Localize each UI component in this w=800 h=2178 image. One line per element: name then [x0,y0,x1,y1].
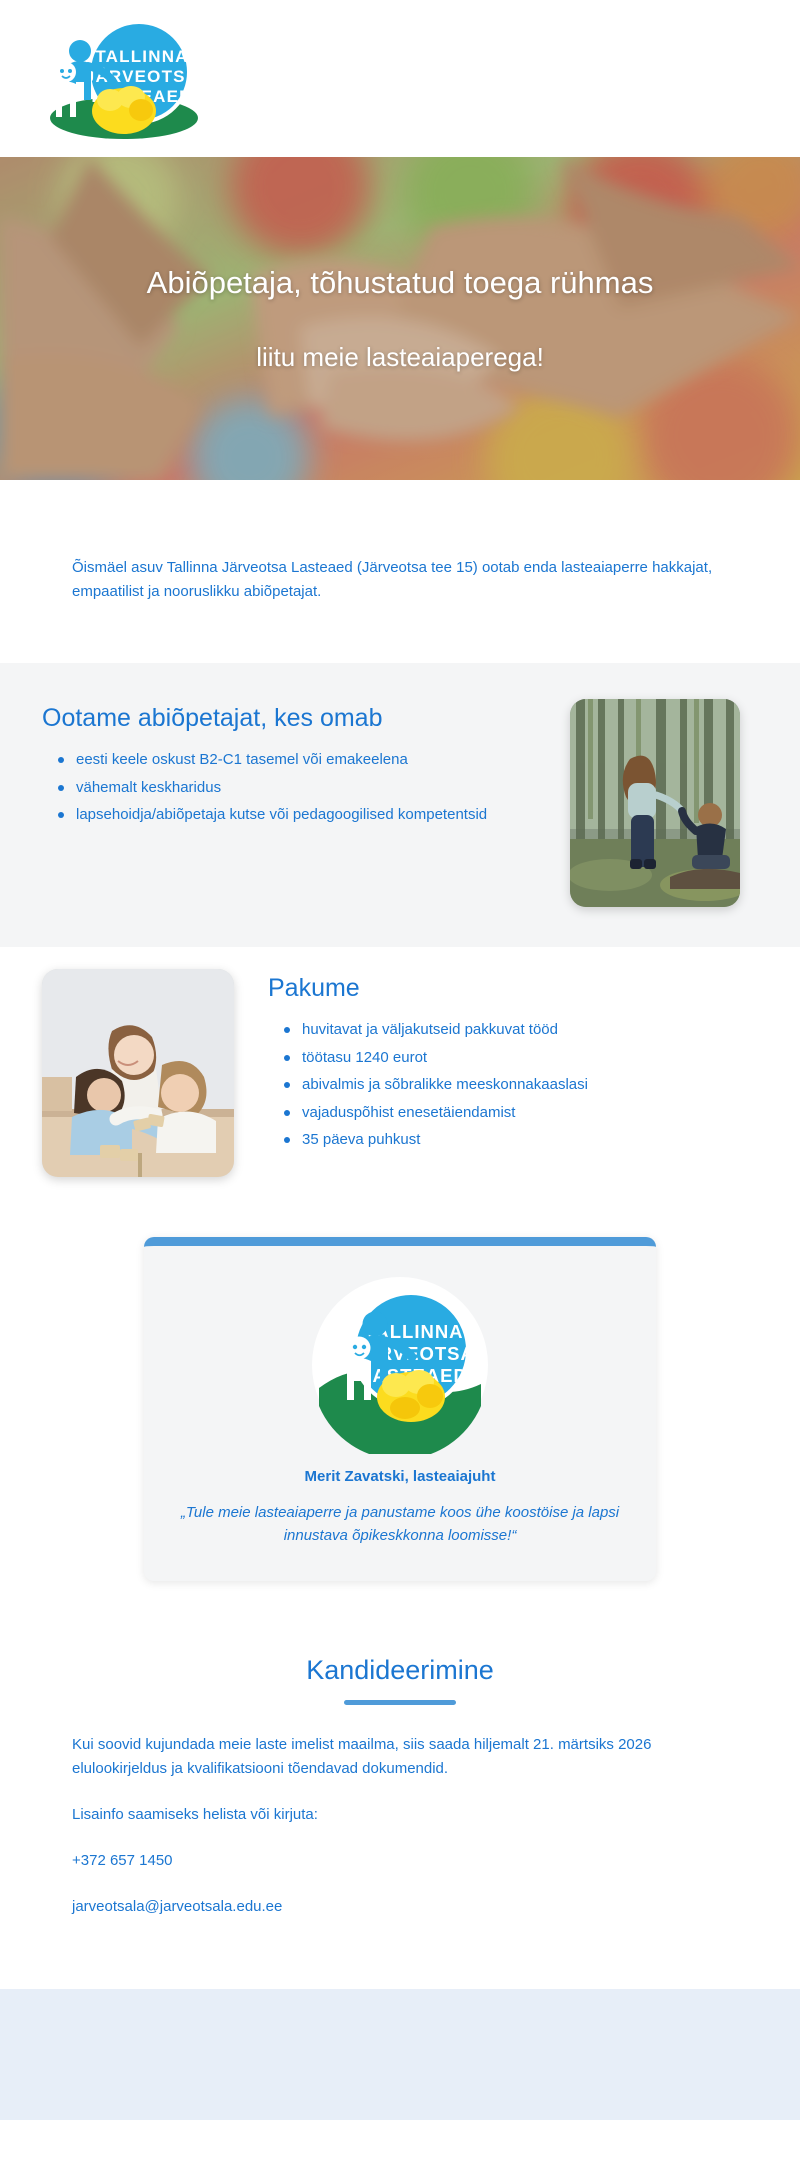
apply-email-row: jarveotsala@jarveotsala.edu.ee [72,1895,728,1919]
list-item: huvitavat ja väljakutseid pakkuvat tööd [302,1019,740,1042]
intro-section: Õismäel asuv Tallinna Järveotsa Lasteaed… [0,480,800,663]
svg-text:TALLINNA: TALLINNA [95,47,188,66]
list-item: vähemalt keskharidus [76,777,536,800]
footer-band [0,1989,800,2120]
phone-link[interactable]: +372 657 1450 [72,1852,173,1869]
list-item: vajaduspõhist enesetäiendamist [302,1102,740,1125]
kindergarten-logo-icon: TALLINNA JÄRVEOTSA LASTEAED [311,1276,489,1454]
apply-phone-row: +372 657 1450 [72,1849,728,1873]
offer-heading: Pakume [268,973,740,1004]
apply-paragraph: Kui soovid kujundada meie laste imelist … [72,1733,728,1781]
apply-section: Kandideerimine Kui soovid kujundada meie… [0,1641,800,1989]
apply-contact-lead: Lisainfo saamiseks helista või kirjuta: [72,1803,728,1827]
requirements-list: eesti keele oskust B2-C1 tasemel või ema… [42,749,536,827]
offer-section: Pakume huvitavat ja väljakutseid pakkuva… [0,947,800,1211]
requirements-heading: Ootame abiõpetajat, kes omab [42,703,442,734]
requirements-section: Ootame abiõpetajat, kes omab eesti keele… [0,663,800,947]
list-item: lapsehoidja/abiõpetaja kutse või pedagoo… [76,804,536,827]
email-link[interactable]: jarveotsala@jarveotsala.edu.ee [72,1898,282,1915]
intro-paragraph: Õismäel asuv Tallinna Järveotsa Lasteaed… [72,556,728,605]
requirements-photo [570,699,740,907]
testimonial-section: TALLINNA JÄRVEOTSA LASTEAED [0,1211,800,1642]
kindergarten-logo-icon: TALLINNA JÄRVEOTSA LASTEAED [36,14,212,144]
offer-photo [42,969,234,1177]
testimonial-author: Merit Zavatski, lasteaiajuht [178,1468,622,1485]
list-item: töötasu 1240 eurot [302,1047,740,1070]
list-item: 35 päeva puhkust [302,1129,740,1152]
apply-title: Kandideerimine [72,1655,728,1686]
list-item: abivalmis ja sõbralikke meeskonnakaaslas… [302,1074,740,1097]
apply-divider [344,1700,456,1705]
testimonial-card: TALLINNA JÄRVEOTSA LASTEAED [144,1237,656,1582]
testimonial-quote: „Tule meie lasteaiaperre ja panustame ko… [178,1501,622,1548]
offer-list: huvitavat ja väljakutseid pakkuvat tööd … [268,1019,740,1152]
hero-title: Abiõpetaja, tõhustatud toega rühmas [147,264,654,303]
hero-subtitle: liitu meie lasteaiaperega! [256,342,544,373]
site-header: TALLINNA JÄRVEOTSA LASTEAED [0,0,800,157]
hero-banner: Abiõpetaja, tõhustatud toega rühmas liit… [0,157,800,480]
list-item: eesti keele oskust B2-C1 tasemel või ema… [76,749,536,772]
